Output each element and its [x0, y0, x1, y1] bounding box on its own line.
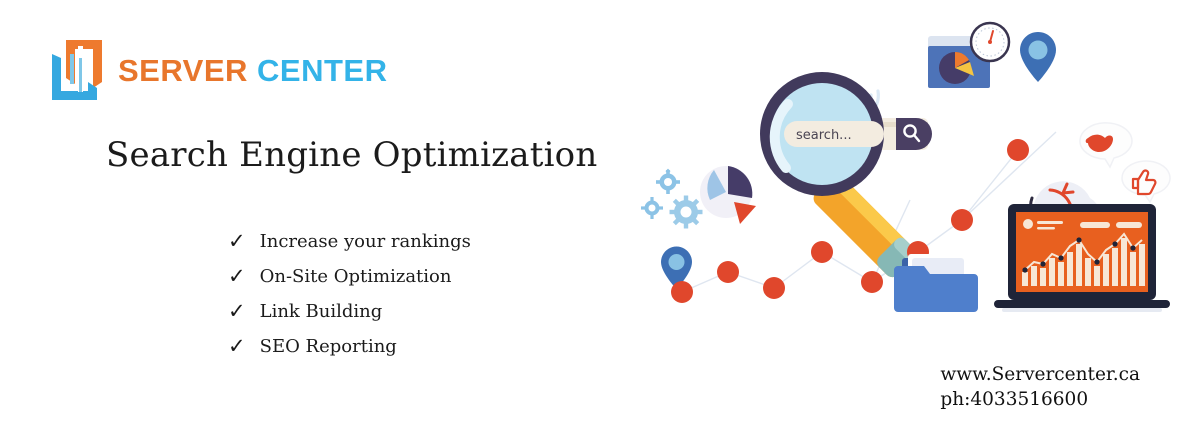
gears-icon [641, 169, 703, 229]
laptop-analytics-icon [994, 204, 1170, 312]
list-item: ✓ Increase your rankings [228, 230, 471, 265]
feature-list: ✓ Increase your rankings ✓ On-Site Optim… [228, 230, 471, 370]
check-icon: ✓ [228, 301, 246, 322]
feature-label: Increase your rankings [260, 231, 471, 252]
check-icon: ✓ [228, 266, 246, 287]
check-icon: ✓ [228, 231, 246, 252]
list-item: ✓ Link Building [228, 300, 471, 335]
list-item: ✓ SEO Reporting [228, 335, 471, 370]
bird-icon [1080, 123, 1132, 167]
brand-word-server: SERVER [118, 53, 248, 88]
brand-wordmark: SERVER CENTER [118, 55, 388, 86]
feature-label: Link Building [260, 301, 383, 322]
server-center-logo-icon [48, 36, 106, 104]
feature-label: On-Site Optimization [260, 266, 452, 287]
search-placeholder-text: search... [796, 128, 852, 143]
check-icon: ✓ [228, 336, 246, 357]
speedometer-gauge-icon [971, 23, 1009, 61]
list-item: ✓ On-Site Optimization [228, 265, 471, 300]
contact-info: www.Servercenter.ca ph:4033516600 [940, 363, 1140, 413]
brand-word-center: CENTER [257, 53, 387, 88]
page-title: Search Engine Optimization [106, 135, 597, 175]
exploded-pie-chart-icon [700, 166, 756, 224]
brand-logo[interactable]: SERVER CENTER [48, 36, 388, 104]
feature-label: SEO Reporting [260, 336, 397, 357]
seo-banner: SERVER CENTER Search Engine Optimization… [0, 0, 1195, 431]
folder-icon [894, 254, 978, 312]
thumbs-up-icon [1122, 161, 1170, 202]
phone-number[interactable]: ph:4033516600 [940, 388, 1140, 413]
magnifying-glass-icon: search... [760, 72, 919, 280]
seo-illustration: search... [610, 0, 1195, 340]
map-pin-icon [1020, 32, 1056, 82]
website-url[interactable]: www.Servercenter.ca [940, 363, 1140, 388]
